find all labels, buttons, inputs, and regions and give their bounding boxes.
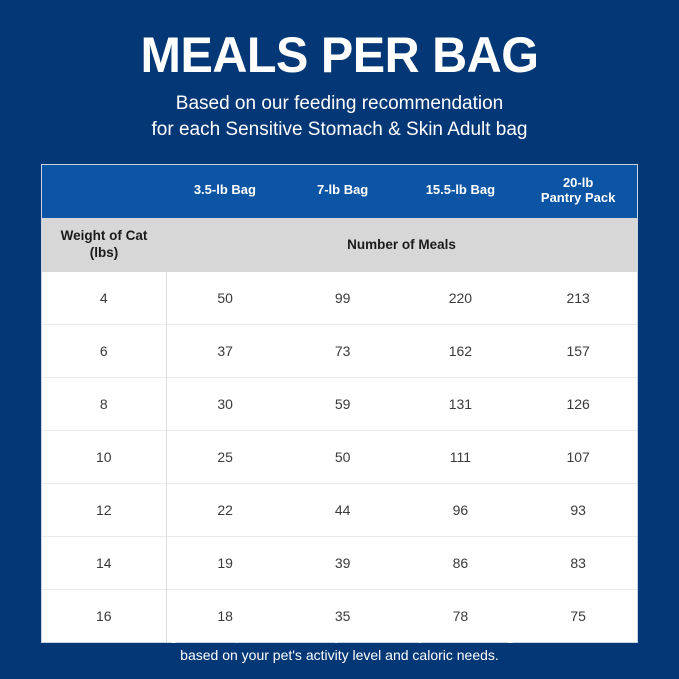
bag-header-20lb-line-2: Pantry Pack — [521, 191, 635, 206]
weight-cell: 10 — [42, 430, 166, 483]
footer-line-2: based on your pet's activity level and c… — [45, 645, 634, 665]
bag-header-15-5lb: 15.5-lb Bag — [402, 165, 520, 218]
bag-header-3-5lb: 3.5-lb Bag — [166, 165, 284, 218]
meals-cell-15-5lb: 220 — [402, 272, 520, 325]
meals-cell-7lb: 50 — [284, 430, 402, 483]
table-body: 4509922021363773162157830591311261025501… — [42, 272, 637, 642]
meals-cell-3-5lb: 50 — [166, 272, 284, 325]
meals-cell-3-5lb: 22 — [166, 483, 284, 536]
meals-cell-3-5lb: 19 — [166, 536, 284, 589]
meals-cell-20lb: 157 — [519, 324, 637, 377]
meals-cell-15-5lb: 96 — [402, 483, 520, 536]
meals-cell-7lb: 59 — [284, 377, 402, 430]
meals-cell-20lb: 93 — [519, 483, 637, 536]
meals-cell-20lb: 213 — [519, 272, 637, 325]
meals-cell-7lb: 44 — [284, 483, 402, 536]
meals-cell-20lb: 126 — [519, 377, 637, 430]
weight-cell: 4 — [42, 272, 166, 325]
meals-cell-3-5lb: 25 — [166, 430, 284, 483]
table-row: 1419398683 — [42, 536, 637, 589]
table-row: 45099220213 — [42, 272, 637, 325]
table-row: 102550111107 — [42, 430, 637, 483]
weight-of-cat-label: Weight of Cat — [61, 228, 148, 243]
table-row: 1222449693 — [42, 483, 637, 536]
weight-cell: 14 — [42, 536, 166, 589]
footer-disclaimer: This is a guide, but please talk with yo… — [0, 625, 679, 666]
weight-cell: 6 — [42, 324, 166, 377]
page-title: MEALS PER BAG — [10, 30, 669, 81]
meals-cell-7lb: 73 — [284, 324, 402, 377]
meals-cell-20lb: 83 — [519, 536, 637, 589]
band-header-row: Weight of Cat (lbs) Number of Meals — [42, 218, 637, 272]
meals-cell-3-5lb: 37 — [166, 324, 284, 377]
meals-cell-7lb: 39 — [284, 536, 402, 589]
meals-cell-3-5lb: 30 — [166, 377, 284, 430]
meals-per-bag-infographic: MEALS PER BAG Based on our feeding recom… — [0, 0, 679, 679]
bag-header-20lb-pantry-pack: 20-lb Pantry Pack — [519, 165, 637, 218]
bag-header-20lb-line-1: 20-lb — [521, 176, 635, 191]
meals-table: 3.5-lb Bag 7-lb Bag 15.5-lb Bag 20-lb Pa… — [42, 165, 637, 642]
bag-header-blank — [42, 165, 166, 218]
weight-cell: 8 — [42, 377, 166, 430]
meals-cell-7lb: 99 — [284, 272, 402, 325]
table-head: 3.5-lb Bag 7-lb Bag 15.5-lb Bag 20-lb Pa… — [42, 165, 637, 272]
table-row: 63773162157 — [42, 324, 637, 377]
meals-cell-15-5lb: 162 — [402, 324, 520, 377]
page-subtitle: Based on our feeding recommendation for … — [0, 91, 679, 142]
weight-of-cat-header: Weight of Cat (lbs) — [42, 218, 166, 272]
footer-line-1: This is a guide, but please talk with yo… — [45, 625, 634, 645]
meals-cell-20lb: 107 — [519, 430, 637, 483]
header-block: MEALS PER BAG Based on our feeding recom… — [0, 0, 679, 142]
meals-cell-15-5lb: 111 — [402, 430, 520, 483]
subtitle-line-1: Based on our feeding recommendation — [60, 91, 619, 117]
number-of-meals-header: Number of Meals — [166, 218, 637, 272]
weight-unit-label: (lbs) — [46, 245, 162, 262]
meals-cell-15-5lb: 131 — [402, 377, 520, 430]
table-row: 83059131126 — [42, 377, 637, 430]
weight-cell: 12 — [42, 483, 166, 536]
meals-cell-15-5lb: 86 — [402, 536, 520, 589]
bag-header-row: 3.5-lb Bag 7-lb Bag 15.5-lb Bag 20-lb Pa… — [42, 165, 637, 218]
meals-table-container: 3.5-lb Bag 7-lb Bag 15.5-lb Bag 20-lb Pa… — [41, 164, 638, 643]
bag-header-7lb: 7-lb Bag — [284, 165, 402, 218]
subtitle-line-2: for each Sensitive Stomach & Skin Adult … — [60, 117, 619, 143]
